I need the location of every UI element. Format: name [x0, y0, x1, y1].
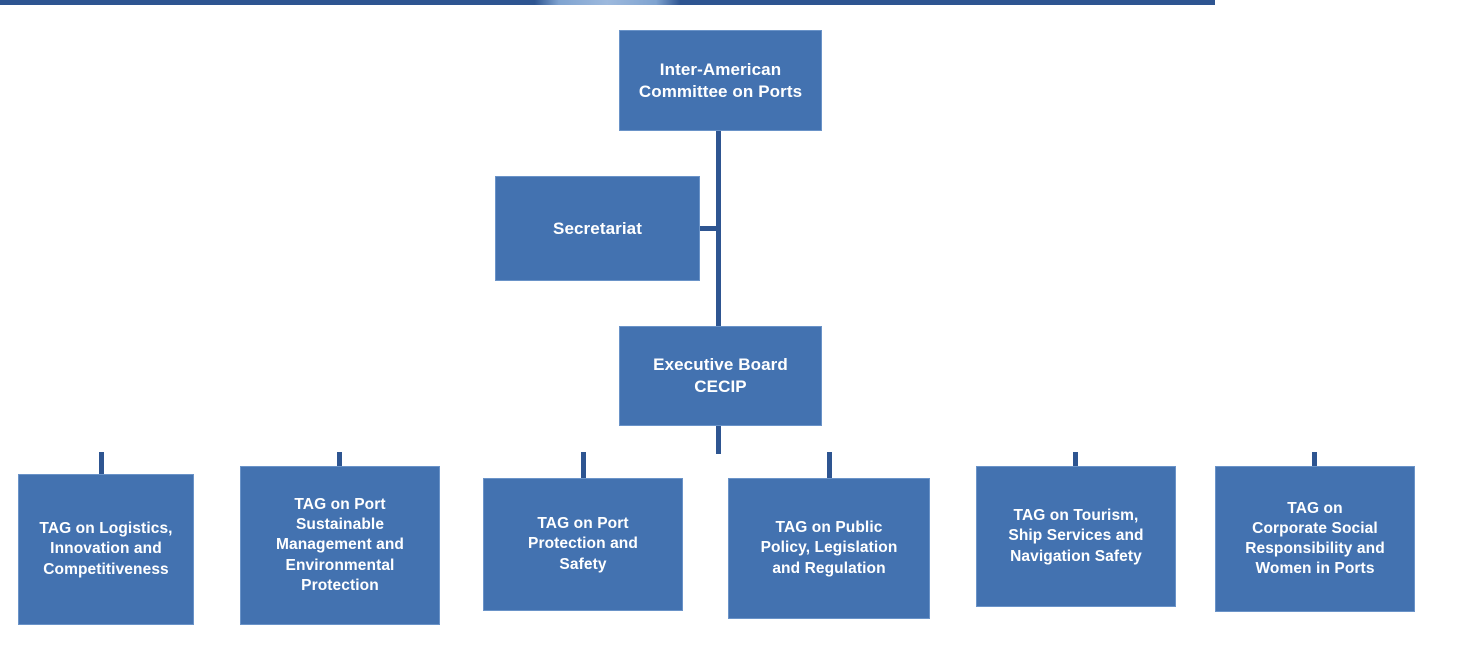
node-tag-corporate-social-responsibility-women-in-ports[interactable]: TAG on Corporate Social Responsibility a… — [1215, 466, 1415, 612]
connector-horizontal-bus — [0, 0, 1215, 5]
connector-drop-tag-1 — [99, 452, 104, 476]
node-secretariat[interactable]: Secretariat — [495, 176, 700, 281]
node-inter-american-committee-on-ports[interactable]: Inter-American Committee on Ports — [619, 30, 822, 131]
connector-secretariat-stub — [700, 226, 717, 231]
node-tag-public-policy-legislation-regulation[interactable]: TAG on Public Policy, Legislation and Re… — [728, 478, 930, 619]
connector-drop-tag-3 — [581, 452, 586, 480]
node-tag-logistics-innovation-competitiveness[interactable]: TAG on Logistics, Innovation and Competi… — [18, 474, 194, 625]
connector-exec-to-bus — [716, 426, 721, 454]
node-tag-port-sustainable-management-environmental-protection[interactable]: TAG on Port Sustainable Management and E… — [240, 466, 440, 625]
org-chart-canvas: Inter-American Committee on Ports Secret… — [0, 0, 1464, 654]
node-executive-board-cecip[interactable]: Executive Board CECIP — [619, 326, 822, 426]
node-tag-tourism-ship-services-navigation-safety[interactable]: TAG on Tourism, Ship Services and Naviga… — [976, 466, 1176, 607]
connector-drop-tag-4 — [827, 452, 832, 480]
node-tag-port-protection-and-safety[interactable]: TAG on Port Protection and Safety — [483, 478, 683, 611]
